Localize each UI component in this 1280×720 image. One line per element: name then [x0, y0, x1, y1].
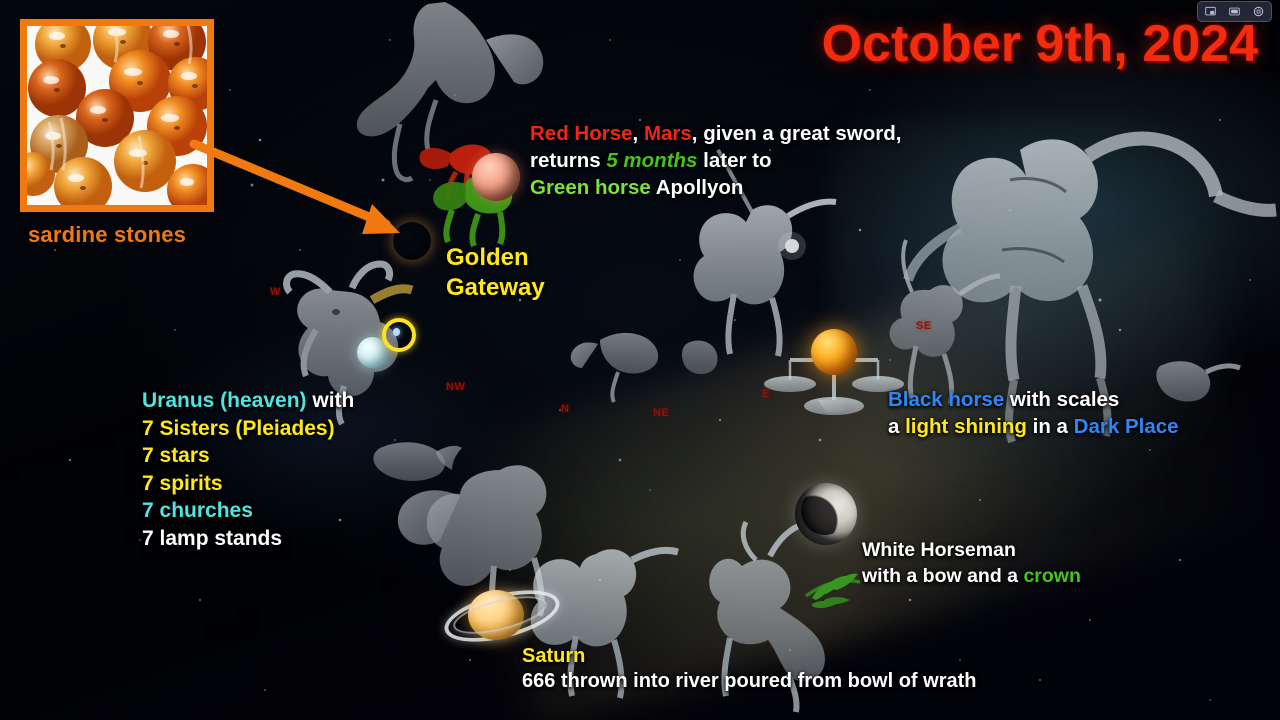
annotation-golden-gateway: Golden Gateway [446, 243, 545, 303]
sky-map-screenshot: sardine stones W NW N NE E SE October 9t… [0, 0, 1280, 720]
light-shining-label: light shining [905, 415, 1027, 438]
black-horse-label: Black horse [888, 388, 1004, 411]
annotation-red-horse: Red Horse, Mars, given a great sword, re… [530, 120, 901, 201]
uranus-list-item: 7 stars [142, 442, 354, 470]
crown-label: crown [1023, 565, 1080, 587]
planet-mars [472, 153, 520, 201]
uranus-label: Uranus (heaven) [142, 389, 307, 412]
golden-gateway-line-1: Golden [446, 243, 545, 273]
white-horseman-line-2: with a bow and a crown [862, 563, 1081, 589]
five-months-label: 5 months [606, 149, 697, 172]
video-player-control-bar[interactable] [1197, 1, 1272, 22]
sardine-stones-image [27, 26, 207, 205]
red-horse-line-1: Red Horse, Mars, given a great sword, [530, 120, 901, 147]
annotation-white-horseman: White Horseman with a bow and a crown [862, 537, 1081, 589]
page-title: October 9th, 2024 [822, 14, 1258, 74]
red-horse-label: Red Horse [530, 122, 633, 145]
annotation-black-horse: Black horse with scales a light shining … [888, 386, 1179, 440]
figure-aries-small [682, 341, 718, 375]
golden-gateway-line-2: Gateway [446, 273, 545, 303]
pleiades-marker-icon [382, 318, 416, 352]
compass-ne: NE [653, 407, 669, 419]
sardine-stones-inset [20, 19, 214, 212]
figure-fish-small [373, 442, 462, 481]
saturn-label: Saturn [522, 645, 585, 668]
uranus-list-item: 7 spirits [142, 470, 354, 498]
sardine-stones-label: sardine stones [28, 222, 186, 248]
theater-mode-icon[interactable] [1229, 6, 1240, 17]
compass-se: SE [916, 320, 932, 332]
sardine-arrow-icon [190, 140, 420, 250]
red-horse-line-2: returns 5 months later to [530, 147, 901, 174]
figure-cetus-small [571, 333, 658, 402]
black-horse-line-2: a light shining in a Dark Place [888, 413, 1179, 440]
compass-e: E [762, 388, 770, 400]
red-horse-line-3: Green horse Apollyon [530, 174, 901, 201]
dark-place-label: Dark Place [1074, 415, 1179, 438]
compass-w: W [270, 286, 281, 298]
uranus-line-1: Uranus (heaven) with [142, 387, 354, 415]
palm-branch-icon [806, 574, 860, 609]
picture-in-picture-icon[interactable] [1205, 6, 1216, 17]
crescent-moon [795, 483, 857, 545]
uranus-list-item: 7 Sisters (Pleiades) [142, 415, 354, 443]
annotation-saturn-text: 666 thrown into river poured from bowl o… [522, 670, 976, 693]
annotation-uranus-list: Uranus (heaven) with 7 Sisters (Pleiades… [142, 387, 354, 552]
white-horseman-line-1: White Horseman [862, 537, 1081, 563]
mars-label: Mars [644, 122, 692, 145]
black-horse-line-1: Black horse with scales [888, 386, 1179, 413]
compass-nw: NW [446, 381, 465, 393]
uranus-list-item: 7 churches [142, 497, 354, 525]
compass-n: N [561, 403, 569, 415]
green-horse-label: Green horse [530, 176, 651, 199]
uranus-list-item: 7 lamp stands [142, 525, 354, 553]
planet-orange-over-scales [811, 329, 857, 375]
settings-gear-icon[interactable] [1253, 6, 1264, 17]
